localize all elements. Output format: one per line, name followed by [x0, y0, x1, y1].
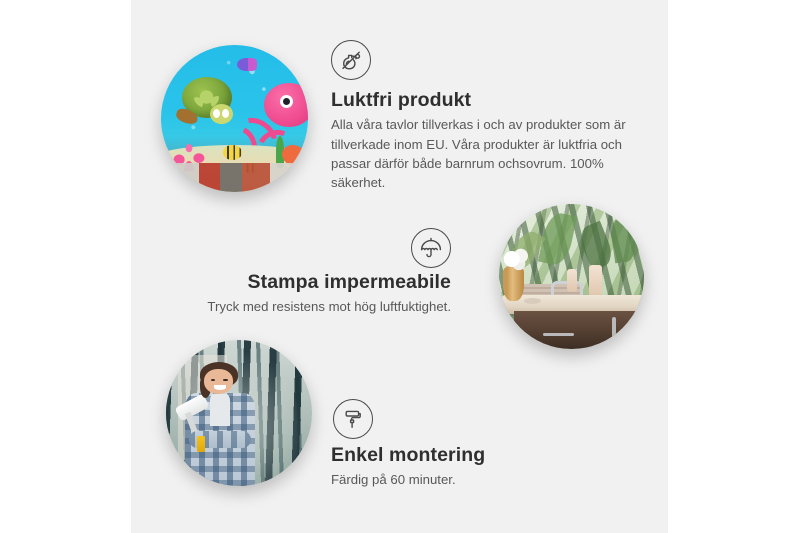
- feature-block-odorless: Luktfri produkt Alla våra tavlor tillver…: [131, 0, 668, 200]
- feature-block-easy-install: Enkel montering Färdig på 60 minuter.: [131, 330, 668, 500]
- umbrella-icon: [411, 228, 451, 268]
- paint-roller-icon: [333, 399, 373, 439]
- feature-title-waterproof: Stampa impermeabile: [151, 270, 451, 294]
- feature-description-waterproof: Tryck med resistens mot hög luftfuktighe…: [151, 297, 451, 316]
- feature-text-odorless: Luktfri produkt Alla våra tavlor tillver…: [331, 88, 636, 192]
- feature-title-easy-install: Enkel montering: [331, 443, 631, 467]
- feature-block-waterproof: Stampa impermeabile Tryck med resistens …: [131, 190, 668, 350]
- feature-description-odorless: Alla våra tavlor tillverkas i och av pro…: [331, 115, 636, 192]
- feature-image-waterproof: [499, 204, 644, 349]
- product-feature-banner: Luktfri produkt Alla våra tavlor tillver…: [0, 0, 800, 533]
- feature-text-waterproof: Stampa impermeabile Tryck med resistens …: [151, 270, 451, 317]
- feature-image-odorless: [161, 45, 308, 192]
- feature-text-easy-install: Enkel montering Färdig på 60 minuter.: [331, 443, 631, 490]
- feature-image-easy-install: [166, 340, 312, 486]
- feature-description-easy-install: Färdig på 60 minuter.: [331, 470, 631, 489]
- feature-title-odorless: Luktfri produkt: [331, 88, 636, 112]
- no-fragrance-icon: [331, 40, 371, 80]
- banner-background: Luktfri produkt Alla våra tavlor tillver…: [131, 0, 668, 533]
